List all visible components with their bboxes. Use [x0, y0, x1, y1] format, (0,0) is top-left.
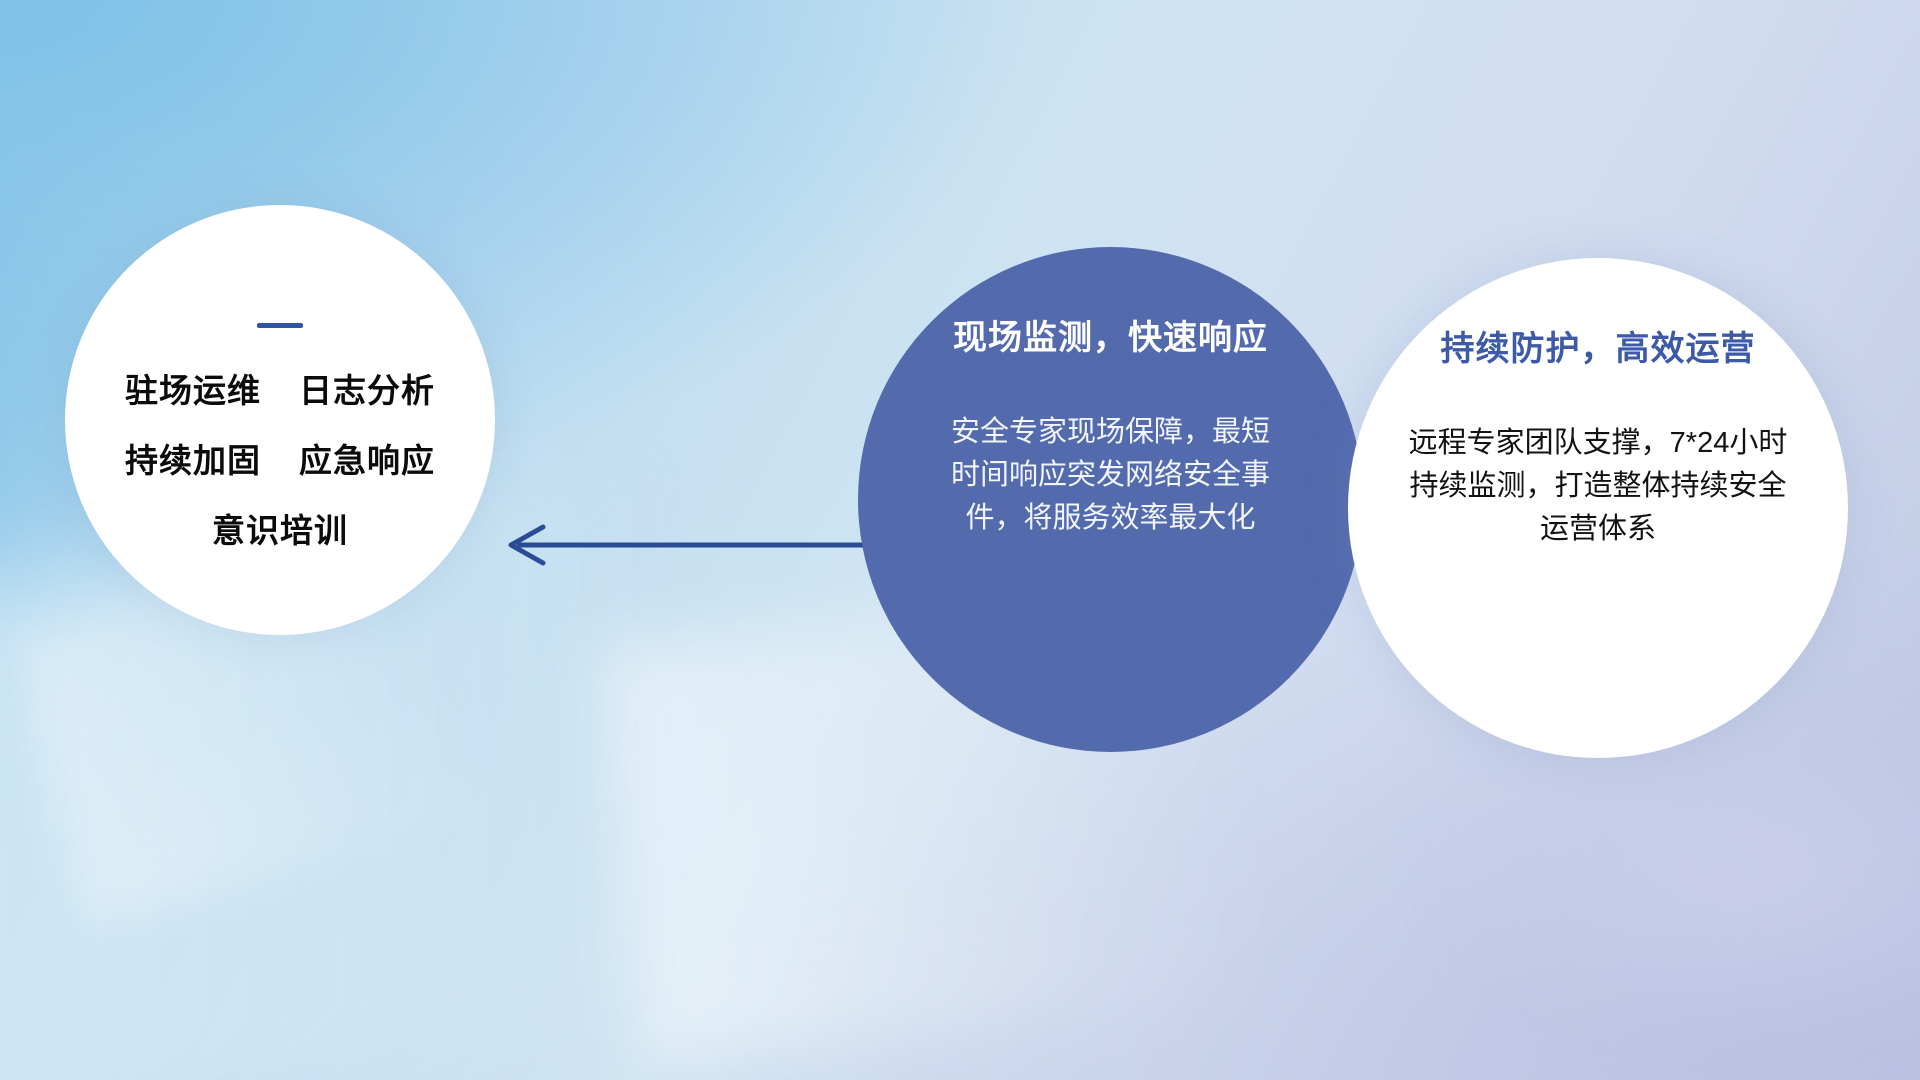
- background-glow-right: [1180, 700, 1920, 1080]
- capabilities-row-3: 意识培训: [212, 504, 348, 552]
- capability-item: 意识培训: [212, 504, 348, 552]
- capabilities-row-1: 驻场运维 日志分析: [125, 364, 435, 412]
- remote-circle-title: 持续防护，高效运营: [1441, 321, 1756, 370]
- remote-operations-circle: 持续防护，高效运营 远程专家团队支撑，7*24小时持续监测，打造整体持续安全运营…: [1348, 258, 1848, 758]
- capability-item: 应急响应: [299, 434, 435, 482]
- onsite-circle-body: 安全专家现场保障，最短时间响应突发网络安全事件，将服务效率最大化: [945, 411, 1277, 540]
- capability-item: 持续加固: [125, 434, 261, 482]
- capabilities-circle: 驻场运维 日志分析 持续加固 应急响应 意识培训: [65, 205, 495, 635]
- onsite-circle-title: 现场监测，快速响应: [953, 310, 1268, 359]
- capability-item: 日志分析: [299, 364, 435, 412]
- capability-item: 驻场运维: [125, 364, 261, 412]
- slide-canvas: 驻场运维 日志分析 持续加固 应急响应 意识培训 现场监测，快速响应 安全专家现…: [0, 0, 1920, 1080]
- capabilities-list: 驻场运维 日志分析 持续加固 应急响应 意识培训: [125, 364, 435, 552]
- capabilities-row-2: 持续加固 应急响应: [125, 434, 435, 482]
- onsite-monitoring-circle: 现场监测，快速响应 安全专家现场保障，最短时间响应突发网络安全事件，将服务效率最…: [858, 247, 1363, 752]
- remote-circle-body: 远程专家团队支撑，7*24小时持续监测，打造整体持续安全运营体系: [1401, 422, 1795, 551]
- title-divider-dash: [257, 323, 303, 328]
- flow-arrow-left-icon: [495, 515, 885, 575]
